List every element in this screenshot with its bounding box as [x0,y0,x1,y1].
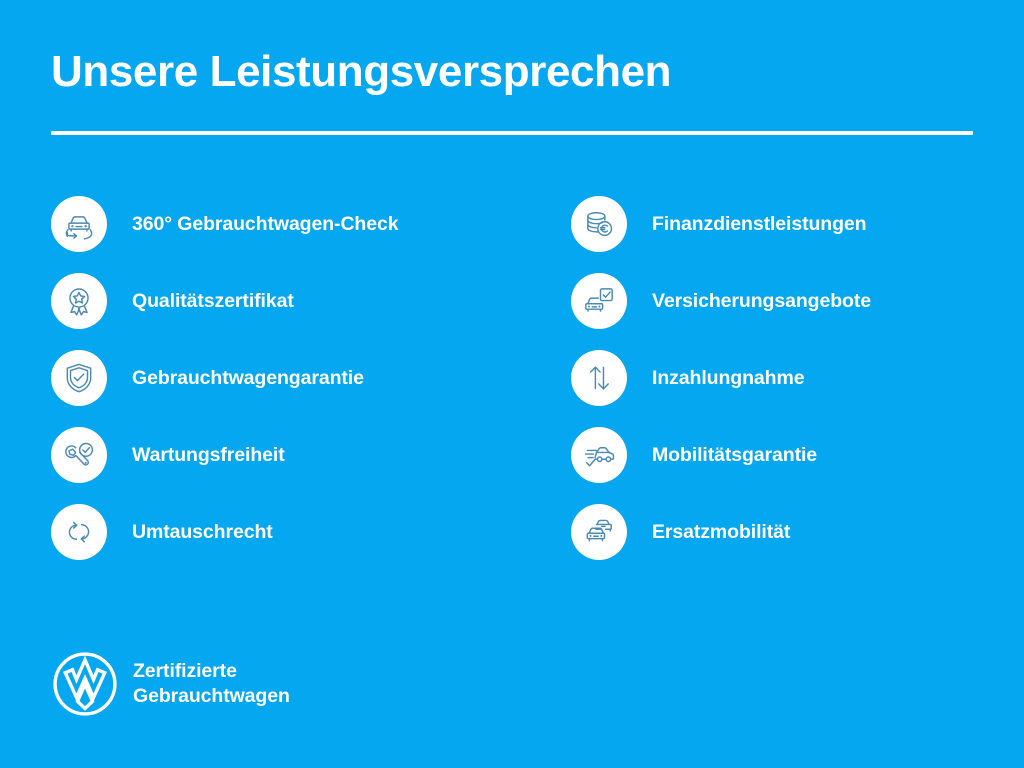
feature-item-qualitaetszertifikat[interactable]: Qualitätszertifikat [51,273,521,329]
slide-root: Unsere Leistungsversprechen [0,0,1024,768]
feature-label: Wartungsfreiheit [132,444,285,467]
shield-check-icon [51,350,107,406]
up-down-arrows-icon [571,350,627,406]
features-column-left: 360° Gebrauchtwagen-Check Qualitätszerti… [51,196,521,560]
feature-label: Qualitätszertifikat [132,290,294,313]
feature-item-gebrauchtwagengarantie[interactable]: Gebrauchtwagengarantie [51,350,521,406]
brand-text: Zertifizierte Gebrauchtwagen [133,659,290,709]
brand-lockup: Zertifizierte Gebrauchtwagen [51,650,290,718]
feature-label: Finanzdienstleistungen [652,213,866,236]
award-rosette-icon [51,273,107,329]
feature-item-umtauschrecht[interactable]: Umtauschrecht [51,504,521,560]
feature-item-gebrauchtwagen-check[interactable]: 360° Gebrauchtwagen-Check [51,196,521,252]
car-360-check-icon [51,196,107,252]
brand-text-line2: Gebrauchtwagen [133,684,290,709]
page-title: Unsere Leistungsversprechen [51,48,671,96]
feature-label: 360° Gebrauchtwagen-Check [132,213,398,236]
wrench-check-icon [51,427,107,483]
feature-item-versicherungsangebote[interactable]: Versicherungsangebote [571,273,1011,329]
features-column-right: Finanzdienstleistungen [571,196,1011,560]
feature-item-mobilitaetsgarantie[interactable]: Mobilitätsgarantie [571,427,1011,483]
feature-item-finanzdienstleistungen[interactable]: Finanzdienstleistungen [571,196,1011,252]
feature-label: Gebrauchtwagengarantie [132,367,364,390]
feature-label: Umtauschrecht [132,521,273,544]
car-checkbox-icon [571,273,627,329]
volkswagen-logo-icon [51,650,119,718]
coins-euro-icon [571,196,627,252]
title-divider [51,131,973,135]
brand-text-line1: Zertifizierte [133,659,290,684]
feature-item-wartungsfreiheit[interactable]: Wartungsfreiheit [51,427,521,483]
feature-label: Inzahlungnahme [652,367,804,390]
two-cars-icon [571,504,627,560]
feature-label: Mobilitätsgarantie [652,444,817,467]
feature-label: Ersatzmobilität [652,521,790,544]
exchange-arrows-icon [51,504,107,560]
feature-item-inzahlungnahme[interactable]: Inzahlungnahme [571,350,1011,406]
feature-label: Versicherungsangebote [652,290,871,313]
car-motion-check-icon [571,427,627,483]
feature-item-ersatzmobilitaet[interactable]: Ersatzmobilität [571,504,1011,560]
